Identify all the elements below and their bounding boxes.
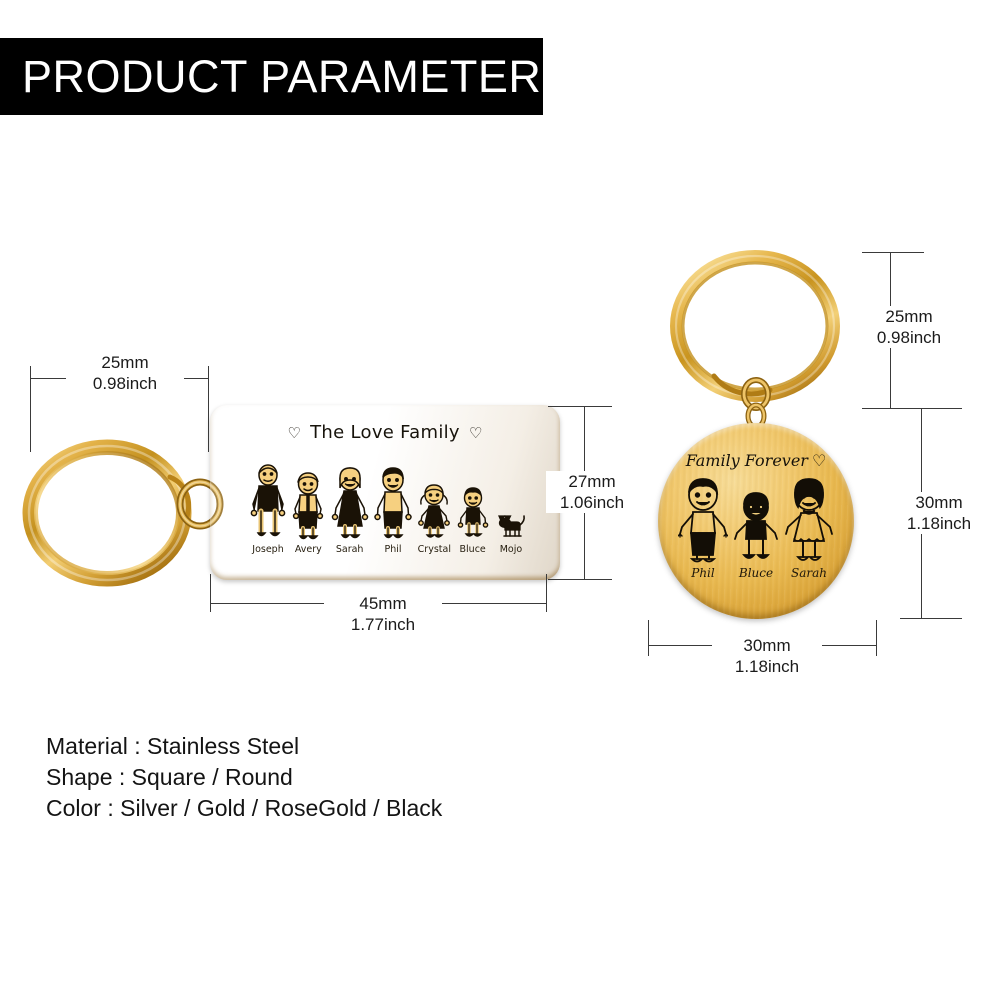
page-title: PRODUCT PARAMETERS xyxy=(0,51,572,103)
split-ring-square xyxy=(20,433,195,593)
square-width-mm: 45mm xyxy=(359,594,406,613)
heart-icon-right: ♡ xyxy=(469,424,483,442)
round-figure-name-sarah: Sarah xyxy=(791,566,827,580)
grandfather-figure-icon xyxy=(250,464,286,542)
dim-tick-right xyxy=(876,620,877,656)
dim-tick-left xyxy=(210,574,211,612)
round-width-mm: 30mm xyxy=(743,636,790,655)
figure-phil: Phil xyxy=(374,466,412,555)
figure-name-sarah: Sarah xyxy=(336,544,364,555)
spec-material: Material : Stainless Steel xyxy=(46,731,646,762)
figure-mojo: Mojo xyxy=(494,510,528,555)
dim-tick-left xyxy=(648,620,649,656)
figure-name-crystal: Crystal xyxy=(418,544,451,555)
round-family-figures: Phil xyxy=(678,475,834,580)
square-tag-engraved-title: ♡The Love Family♡ xyxy=(210,422,560,443)
spec-shape: Shape : Square / Round xyxy=(46,762,646,793)
square-tag-plate: ♡The Love Family♡ xyxy=(210,405,560,580)
figure-crystal: Crystal xyxy=(417,482,451,555)
square-height-inch: 1.06inch xyxy=(560,493,624,512)
grandmother-figure-icon xyxy=(291,472,325,542)
round-keychain-product: Family Forever♡ xyxy=(640,248,870,623)
figure-name-joseph: Joseph xyxy=(252,544,283,555)
product-spec-list: Material : Stainless Steel Shape : Squar… xyxy=(46,731,646,824)
spec-color: Color : Silver / Gold / RoseGold / Black xyxy=(46,793,646,824)
round-tag-engraved-title: Family Forever♡ xyxy=(658,451,854,470)
figure-name-bluce: Bluce xyxy=(460,544,486,555)
figure-name-avery: Avery xyxy=(295,544,322,555)
dim-tick-bottom xyxy=(900,618,962,619)
figure-joseph: Joseph xyxy=(250,464,286,555)
round-height-mm: 30mm xyxy=(915,493,962,512)
dim-tick-top xyxy=(548,406,612,407)
girl-figure-icon xyxy=(417,482,451,542)
dim-tick-top xyxy=(862,252,924,253)
boy-figure-icon xyxy=(457,486,489,542)
dim-tick-right xyxy=(546,574,547,612)
round-title-text: Family Forever xyxy=(686,451,808,470)
round-width-inch: 1.18inch xyxy=(735,657,799,676)
round-ring-mm: 25mm xyxy=(885,307,932,326)
square-family-figures: Joseph xyxy=(250,460,528,555)
figure-sarah: Sarah xyxy=(331,466,369,555)
boy-figure-icon xyxy=(734,491,778,565)
square-height-dimension-label: 27mm 1.06inch xyxy=(546,471,638,513)
header-banner: PRODUCT PARAMETERS xyxy=(0,38,543,115)
round-height-inch: 1.18inch xyxy=(907,514,971,533)
round-height-dimension-label: 30mm 1.18inch xyxy=(886,492,992,534)
mother-figure-icon xyxy=(331,466,369,542)
round-figure-sarah: Sarah xyxy=(784,477,834,580)
round-width-dimension-label: 30mm 1.18inch xyxy=(712,635,822,677)
cat-figure-icon xyxy=(494,510,528,540)
heart-icon-round: ♡ xyxy=(812,451,826,470)
round-tag-plate: Family Forever♡ xyxy=(658,423,854,619)
square-title-text: The Love Family xyxy=(310,422,460,443)
round-figure-name-bluce: Bluce xyxy=(739,566,773,580)
figure-name-phil: Phil xyxy=(384,544,401,555)
square-width-dimension-label: 45mm 1.77inch xyxy=(324,593,442,635)
round-ring-inch: 0.98inch xyxy=(877,328,941,347)
dim-tick-right xyxy=(208,366,209,452)
round-figure-phil: Phil xyxy=(678,477,728,580)
heart-icon-left: ♡ xyxy=(287,424,301,442)
figure-bluce: Bluce xyxy=(457,486,489,555)
square-ring-inch: 0.98inch xyxy=(93,374,157,393)
round-figure-bluce: Bluce xyxy=(734,491,778,580)
dim-tick-top xyxy=(900,408,962,409)
square-ring-mm: 25mm xyxy=(101,353,148,372)
square-width-inch: 1.77inch xyxy=(351,615,415,634)
figure-name-mojo: Mojo xyxy=(500,544,522,555)
round-figure-name-phil: Phil xyxy=(691,566,714,580)
mother-figure-icon xyxy=(784,477,834,565)
father-figure-icon xyxy=(678,477,728,565)
square-keychain-product: ♡The Love Family♡ xyxy=(20,395,565,600)
round-ring-dimension-label: 25mm 0.98inch xyxy=(856,306,962,348)
father-figure-icon xyxy=(374,466,412,542)
figure-avery: Avery xyxy=(291,472,325,555)
dim-tick-bottom xyxy=(548,579,612,580)
square-ring-dimension-label: 25mm 0.98inch xyxy=(66,352,184,394)
square-height-mm: 27mm xyxy=(568,472,615,491)
